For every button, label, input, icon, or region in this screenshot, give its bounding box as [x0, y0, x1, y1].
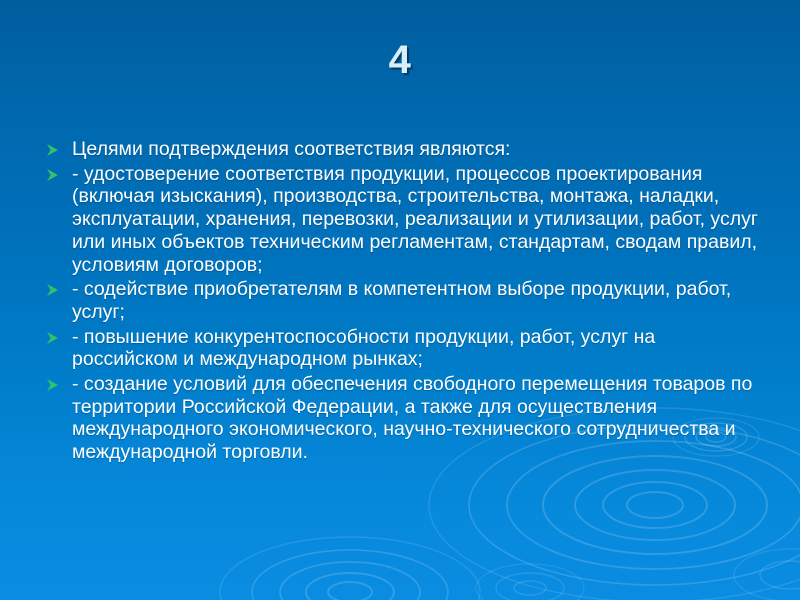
bullet-list: Целями подтверждения соответствия являют… [38, 138, 766, 464]
list-item-label: - создание условий для обеспечения свобо… [72, 373, 766, 464]
slide-title-area: 4 [0, 38, 800, 82]
page-title: 4 [389, 38, 412, 82]
chevron-right-arrowhead-icon [44, 329, 62, 347]
list-item-label: - удостоверение соответствия продукции, … [72, 163, 766, 277]
list-item-label: - содействие приобретателям в компетентн… [72, 278, 766, 323]
list-item: - удостоверение соответствия продукции, … [38, 163, 766, 277]
list-item: - содействие приобретателям в компетентн… [38, 278, 766, 323]
chevron-right-arrowhead-icon [44, 141, 62, 159]
list-item-label: - повышение конкурентоспособности продук… [72, 326, 766, 371]
chevron-right-arrowhead-icon [44, 281, 62, 299]
chevron-right-arrowhead-icon [44, 166, 62, 184]
list-item-label: Целями подтверждения соответствия являют… [72, 138, 766, 161]
list-item: - создание условий для обеспечения свобо… [38, 373, 766, 464]
chevron-right-arrowhead-icon [44, 376, 62, 394]
slide-body-area: Целями подтверждения соответствия являют… [38, 138, 766, 466]
list-item: Целями подтверждения соответствия являют… [38, 138, 766, 161]
ripple-cluster-bottom-centre [220, 537, 480, 600]
ripple-cluster-bottom-left [476, 564, 584, 600]
list-item: - повышение конкурентоспособности продук… [38, 326, 766, 371]
presentation-slide: 4 Целями подтверждения соответствия явля… [0, 0, 800, 600]
ripple-cluster-right-edge [734, 549, 800, 600]
